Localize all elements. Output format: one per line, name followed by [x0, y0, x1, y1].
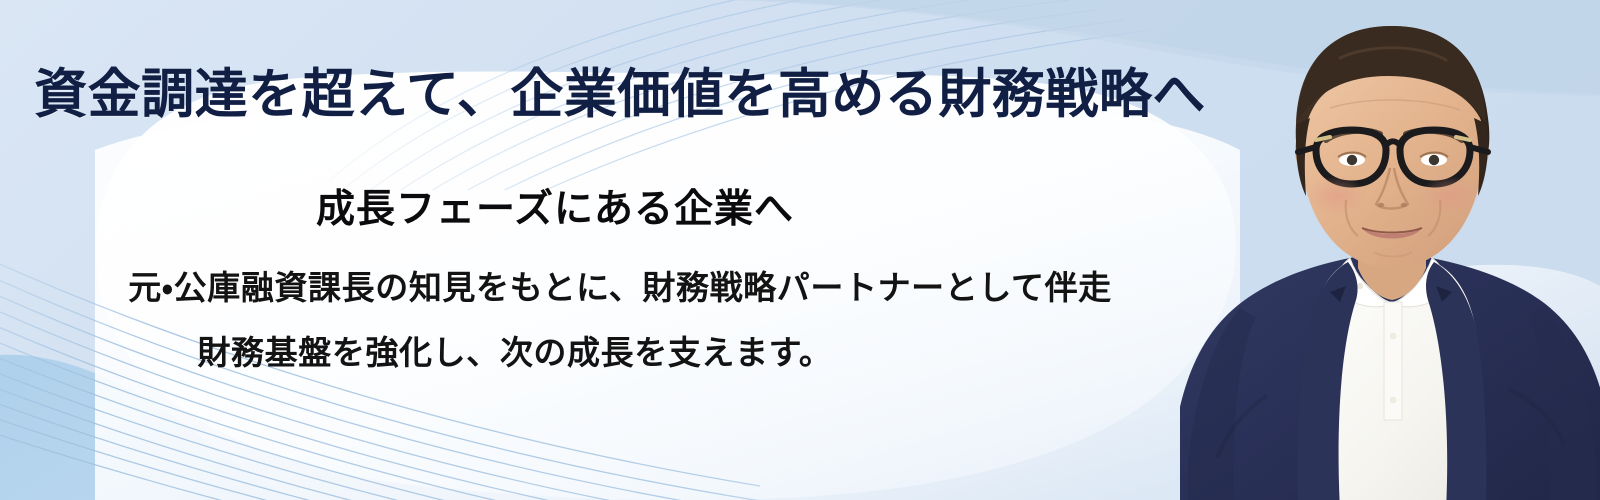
nostril-left — [1378, 203, 1385, 207]
pupil-left — [1347, 155, 1357, 165]
portrait-of-male-financial-advisor — [1180, 0, 1600, 500]
nostril-right — [1401, 203, 1408, 207]
lead-text-line-1: 元・公庫融資課長の知見をもとに、財務戦略パートナーとして伴走 — [0, 273, 1240, 306]
page-title: 資金調達を超えて、企業価値を高める財務戦略へ — [0, 66, 1240, 125]
collar-button-left — [1357, 283, 1363, 289]
lead-text-line-2: 財務基盤を強化し、次の成長を支えます。 — [0, 338, 1030, 371]
subheadline: 成長フェーズにある企業へ — [0, 187, 1110, 234]
cheek-right — [1420, 176, 1480, 216]
pupil-right — [1429, 155, 1439, 165]
hero-banner: 資金調達を超えて、企業価値を高める財務戦略へ 成長フェーズにある企業へ 元・公庫… — [0, 0, 1600, 500]
shirt-button-bottom — [1390, 397, 1397, 404]
cheek-left — [1306, 176, 1366, 216]
shirt-button-top — [1390, 333, 1397, 340]
